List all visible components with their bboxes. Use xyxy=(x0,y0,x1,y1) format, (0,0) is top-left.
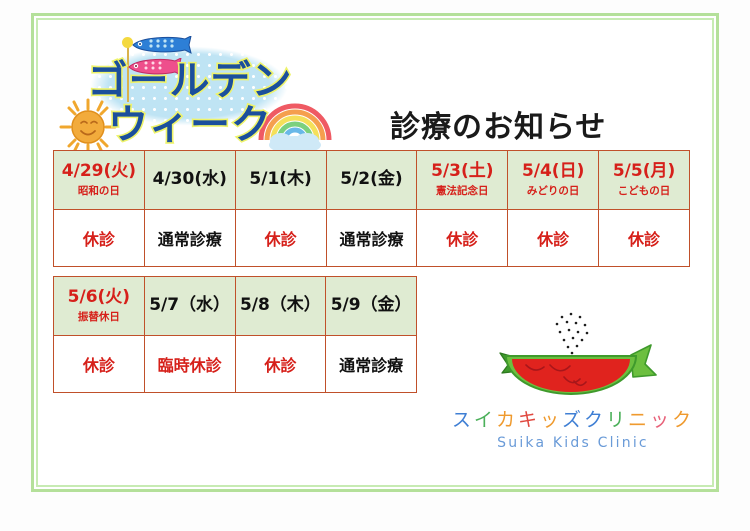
holiday-label: 昭和の日 xyxy=(54,185,144,198)
date-cell: 5/5(月) こどもの日 xyxy=(599,151,690,210)
status-cell: 通常診療 xyxy=(326,210,417,267)
date-label: 5/7（水） xyxy=(145,296,235,316)
holiday-label: 振替休日 xyxy=(54,311,144,324)
clinic-name-char: ス xyxy=(452,409,474,431)
status-badge: 休診 xyxy=(83,230,115,249)
date-label: 5/9（金） xyxy=(326,296,416,316)
clinic-name-char: カ xyxy=(496,409,518,431)
status-badge: 休診 xyxy=(265,230,297,249)
date-cell: 5/1(木) xyxy=(235,151,326,210)
date-label: 5/1(木) xyxy=(236,170,326,190)
status-cell: 通常診療 xyxy=(144,210,235,267)
status-cell: 休診 xyxy=(54,210,145,267)
date-cell: 5/9（金） xyxy=(326,277,417,336)
logo-line-2: ウィーク xyxy=(55,92,325,150)
table-row-status-week2: 休診 臨時休診 休診 通常診療 xyxy=(54,336,417,393)
table-row-status-week1: 休診 通常診療 休診 通常診療 休診 休診 休診 xyxy=(54,210,690,267)
date-label: 5/2(金) xyxy=(327,170,417,190)
clinic-name-en: Suika Kids Clinic xyxy=(448,435,698,451)
date-label: 5/4(日) xyxy=(508,162,598,182)
date-cell: 5/2(金) xyxy=(326,151,417,210)
watermelon-whale-icon xyxy=(488,311,658,411)
date-label: 4/30(水) xyxy=(145,170,235,190)
holiday-label: こどもの日 xyxy=(599,185,689,198)
clinic-name-char: ク xyxy=(584,409,606,431)
clinic-name-char: ッ xyxy=(650,409,672,431)
date-cell: 5/3(土) 憲法記念日 xyxy=(417,151,508,210)
status-cell: 休診 xyxy=(235,210,326,267)
status-badge: 休診 xyxy=(537,230,569,249)
status-cell: 休診 xyxy=(54,336,145,393)
date-label: 5/5(月) xyxy=(599,162,689,182)
holiday-label: みどりの日 xyxy=(508,185,598,198)
status-badge: 臨時休診 xyxy=(158,356,222,375)
holiday-label: 憲法記念日 xyxy=(417,185,507,198)
date-cell: 5/7（水） xyxy=(144,277,235,336)
date-cell: 5/6(火) 振替休日 xyxy=(54,277,145,336)
clinic-logo: スイカキッズクリニック Suika Kids Clinic xyxy=(448,305,698,470)
status-cell: 通常診療 xyxy=(326,336,417,393)
date-label: 5/3(土) xyxy=(417,162,507,182)
date-cell: 4/30(水) xyxy=(144,151,235,210)
status-cell: 休診 xyxy=(599,210,690,267)
status-badge: 休診 xyxy=(264,356,296,375)
status-cell: 休診 xyxy=(417,210,508,267)
date-cell: 4/29(火) 昭和の日 xyxy=(54,151,145,210)
date-label: 4/29(火) xyxy=(54,162,144,182)
date-cell: 5/8（木） xyxy=(235,277,326,336)
page-title: 診療のお知らせ xyxy=(390,102,606,146)
date-label: 5/6(火) xyxy=(54,288,144,308)
status-badge: 休診 xyxy=(628,230,660,249)
status-cell: 休診 xyxy=(235,336,326,393)
golden-week-logo: ゴールデン ウィーク xyxy=(55,20,325,140)
clinic-name-char: ニ xyxy=(628,409,650,431)
date-label: 5/8（木） xyxy=(236,296,326,316)
status-badge: 通常診療 xyxy=(339,356,403,375)
schedule-table-week1: 4/29(火) 昭和の日 4/30(水) 5/1(木) 5/2(金) 5/3(土… xyxy=(53,150,690,267)
table-row-dates-week1: 4/29(火) 昭和の日 4/30(水) 5/1(木) 5/2(金) 5/3(土… xyxy=(54,151,690,210)
status-cell: 臨時休診 xyxy=(144,336,235,393)
notice-poster: ゴールデン ウィーク 診療のお知らせ 4/29(火) 昭和の日 4/30(水) … xyxy=(0,0,750,531)
date-cell: 5/4(日) みどりの日 xyxy=(508,151,599,210)
clinic-name-char: キ xyxy=(518,409,540,431)
clinic-name-char: ク xyxy=(672,409,694,431)
clinic-name-jp: スイカキッズクリニック xyxy=(448,405,698,432)
schedule-table-week2: 5/6(火) 振替休日 5/7（水） 5/8（木） 5/9（金） 休診 臨時休診… xyxy=(53,276,417,393)
status-badge: 通常診療 xyxy=(339,230,403,249)
clinic-name-char: イ xyxy=(474,409,496,431)
clinic-name-char: ズ xyxy=(562,409,584,431)
status-badge: 通常診療 xyxy=(158,230,222,249)
status-badge: 休診 xyxy=(446,230,478,249)
clinic-name-char: ッ xyxy=(540,409,562,431)
clinic-name-char: リ xyxy=(606,409,628,431)
status-cell: 休診 xyxy=(508,210,599,267)
status-badge: 休診 xyxy=(83,356,115,375)
table-row-dates-week2: 5/6(火) 振替休日 5/7（水） 5/8（木） 5/9（金） xyxy=(54,277,417,336)
